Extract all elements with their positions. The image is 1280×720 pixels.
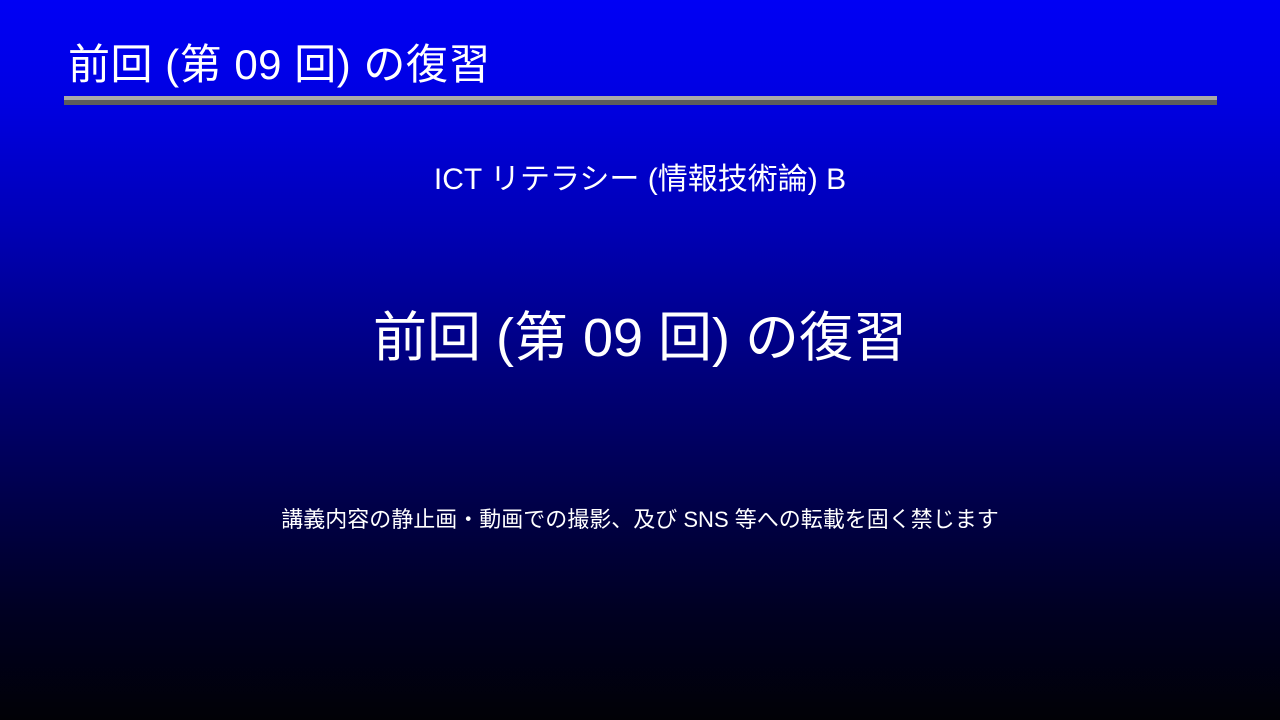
copyright-notice: 講義内容の静止画・動画での撮影、及び SNS 等への転載を固く禁じます [0, 506, 1280, 535]
page-title: 前回 (第 09 回) の復習 [68, 44, 491, 86]
main-heading: 前回 (第 09 回) の復習 [0, 306, 1280, 371]
title-divider [64, 96, 1217, 105]
title-divider-shadow [64, 100, 1217, 105]
course-subtitle: ICT リテラシー (情報技術論) B [0, 162, 1280, 198]
presentation-slide: 前回 (第 09 回) の復習 ICT リテラシー (情報技術論) B 前回 (… [0, 0, 1280, 720]
